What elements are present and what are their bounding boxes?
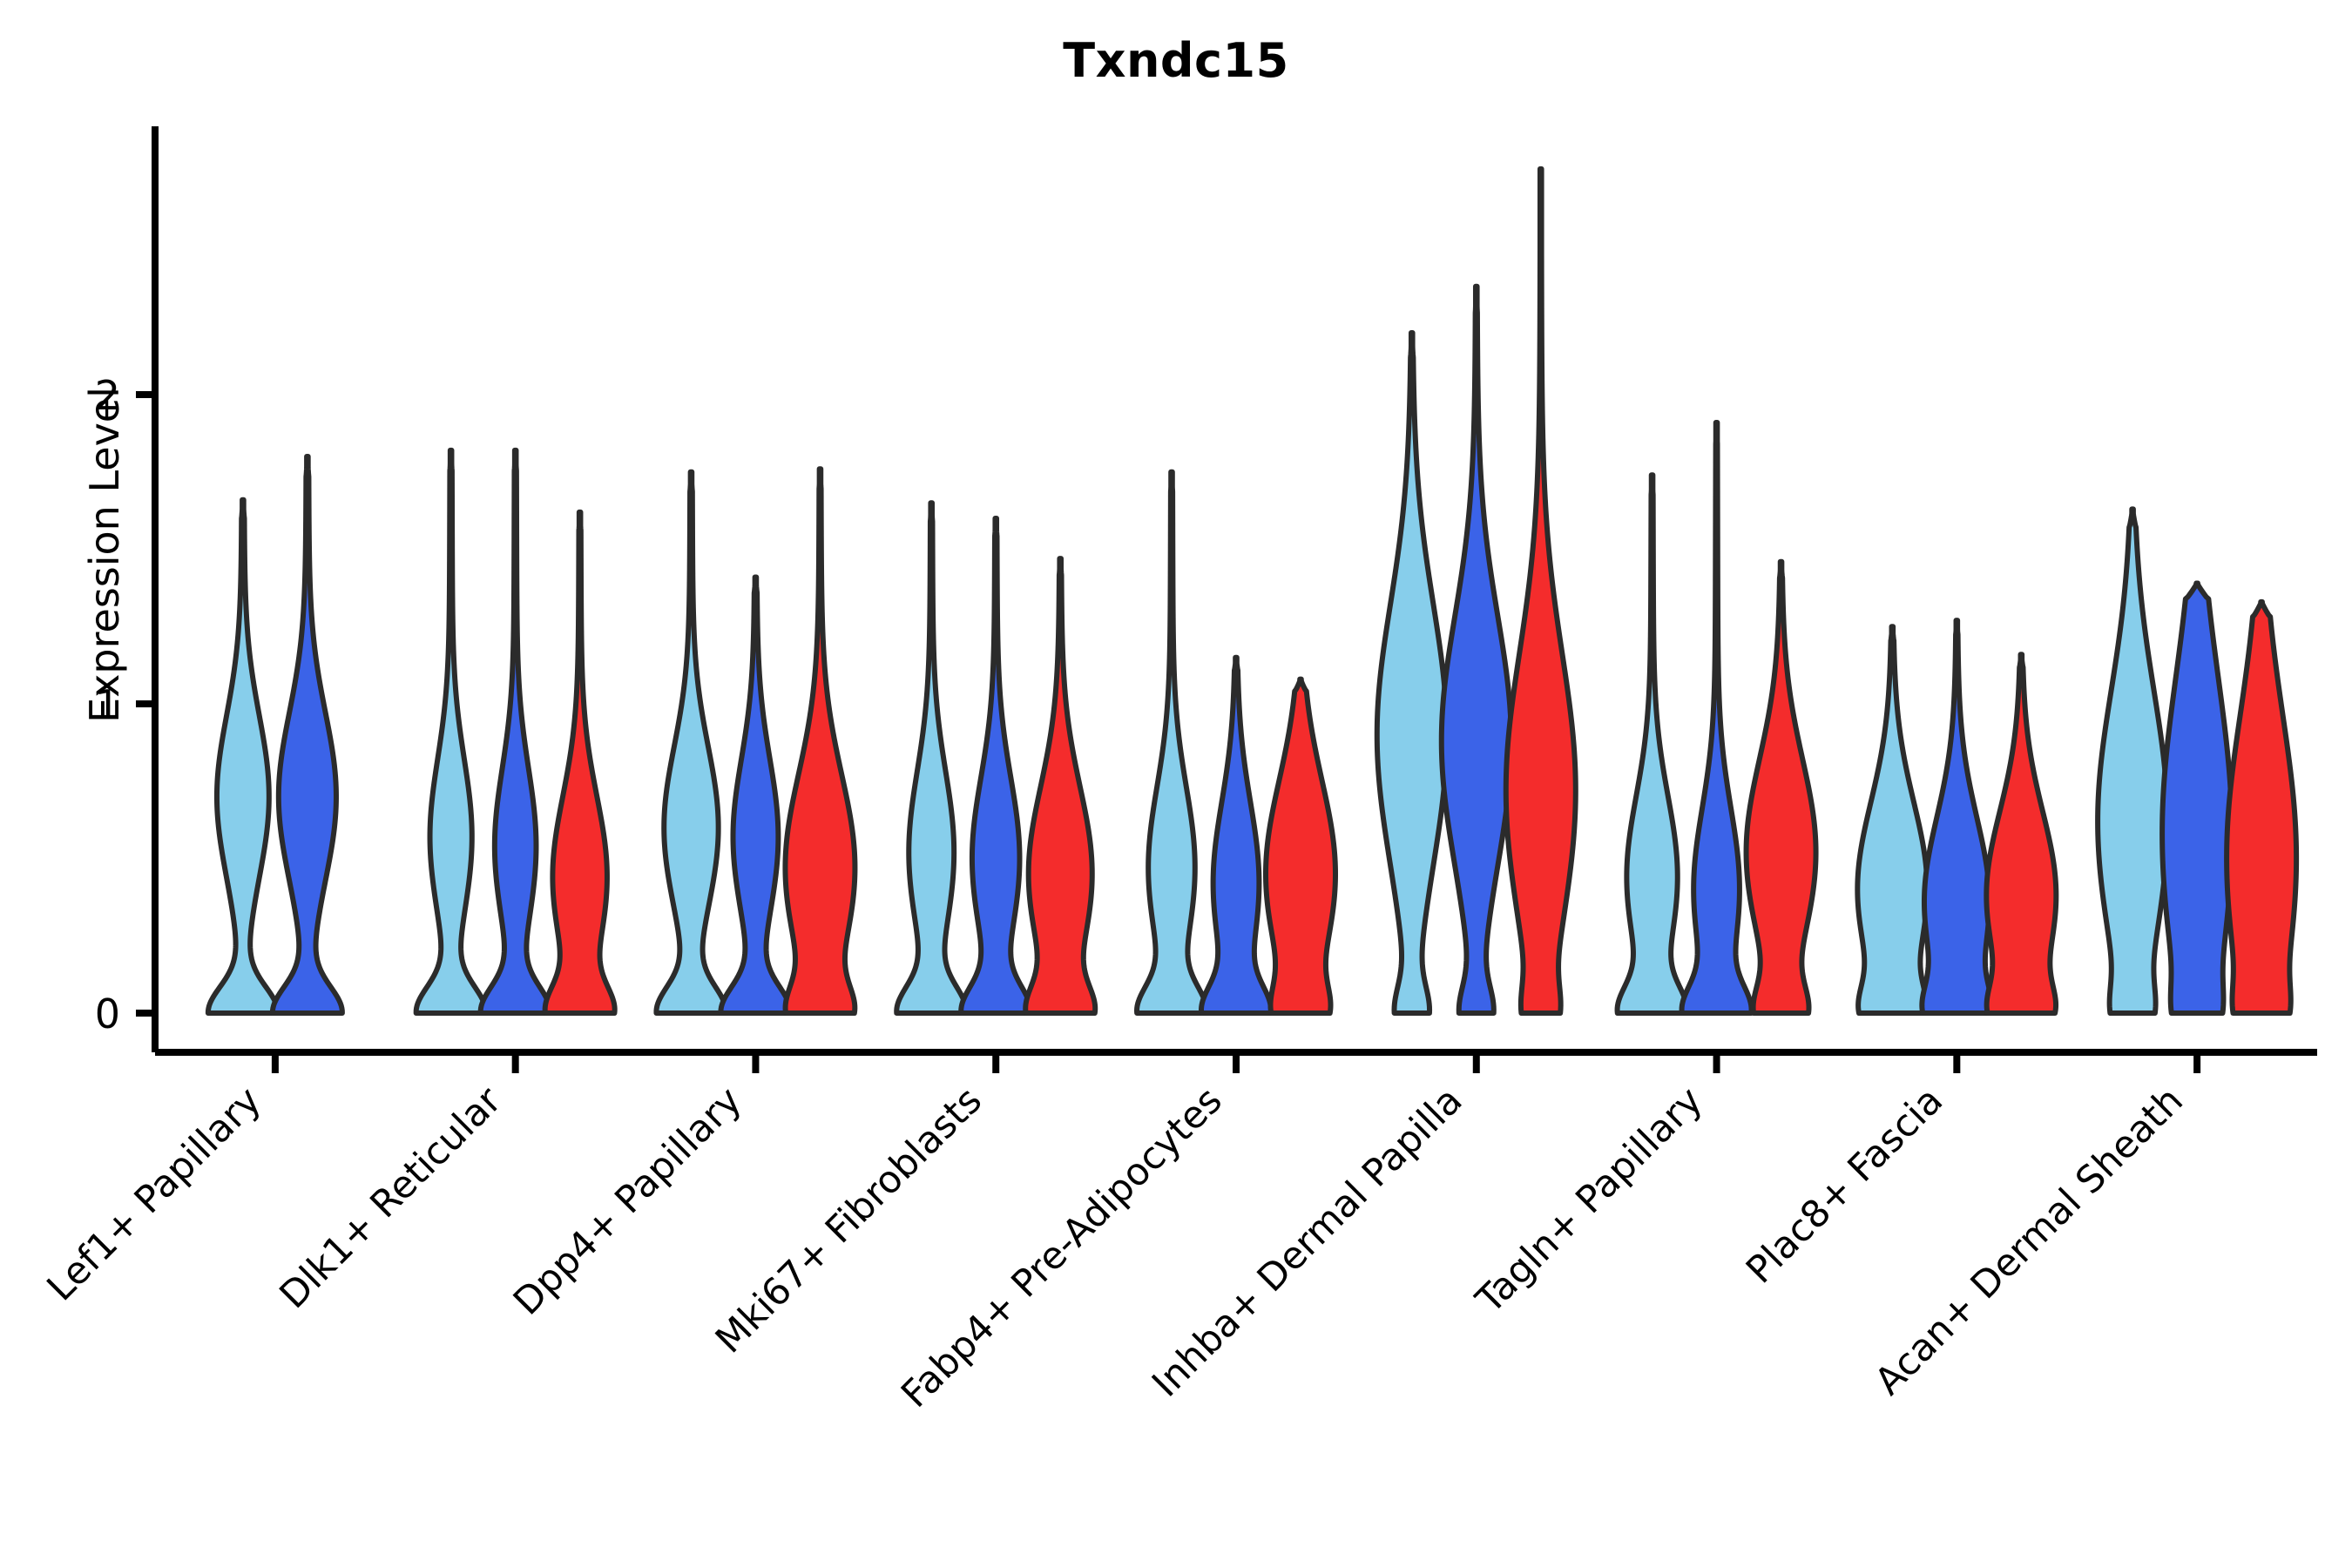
violin-6-2: [1442, 287, 1511, 1013]
violin-3-3: [785, 469, 855, 1013]
violin-8-2: [1922, 620, 1991, 1013]
violin-3-1: [656, 472, 726, 1013]
violin-5-3: [1266, 679, 1335, 1013]
violin-4-1: [896, 503, 966, 1013]
x-tick-group-1: Dlk1+ Reticular: [272, 1078, 510, 1317]
violin-1-2: [273, 456, 342, 1013]
x-tick-label-2: Dpp4+ Papillary: [505, 1078, 750, 1323]
violin-7-2: [1682, 422, 1752, 1013]
violin-plot-figure: Txndc15 Expression Level 012 Lef1+ Papil…: [0, 0, 2352, 1568]
violin-5-1: [1137, 472, 1206, 1013]
x-tick-group-2: Dpp4+ Papillary: [505, 1078, 750, 1323]
violin-8-3: [1986, 654, 2056, 1013]
violin-3-2: [720, 577, 790, 1013]
x-tick-group-7: Plac8+ Fascia: [1738, 1078, 1951, 1292]
x-tick-label-1: Dlk1+ Reticular: [272, 1078, 510, 1317]
violin-9-3: [2227, 602, 2296, 1013]
x-tick-label-7: Plac8+ Fascia: [1738, 1078, 1951, 1292]
violin-6-3: [1506, 169, 1576, 1013]
violin-7-1: [1618, 475, 1687, 1013]
violin-4-2: [961, 518, 1031, 1013]
x-tick-group-0: Lef1+ Papillary: [39, 1078, 270, 1309]
y-tick-label-2: 2: [95, 372, 120, 419]
x-tick-label-6: Tagln+ Papillary: [1468, 1078, 1712, 1322]
violin-1-1: [208, 500, 278, 1013]
violin-2-3: [545, 512, 615, 1013]
violin-9-2: [2162, 584, 2232, 1013]
y-tick-label-1: 1: [95, 681, 120, 728]
violin-5-2: [1201, 658, 1271, 1013]
x-tick-label-3: Mki67+ Fibroblasts: [707, 1078, 990, 1362]
violin-8-1: [1857, 626, 1927, 1013]
x-tick-labels: Lef1+ PapillaryDlk1+ ReticularDpp4+ Papi…: [39, 1078, 2192, 1416]
y-tick-label-0: 0: [95, 990, 120, 1037]
chart-canvas: 012 Lef1+ PapillaryDlk1+ ReticularDpp4+ …: [0, 0, 2352, 1568]
violin-4-3: [1025, 558, 1095, 1013]
violin-6-1: [1377, 333, 1447, 1013]
x-tick-group-6: Tagln+ Papillary: [1468, 1078, 1712, 1322]
x-tick-group-3: Mki67+ Fibroblasts: [707, 1078, 990, 1362]
violins-layer: [208, 169, 2296, 1013]
violin-9-1: [2098, 509, 2167, 1013]
violin-2-2: [481, 450, 551, 1013]
x-tick-label-0: Lef1+ Papillary: [39, 1078, 270, 1309]
y-tick-labels: 012: [95, 372, 120, 1037]
violin-7-3: [1747, 562, 1816, 1013]
violin-2-1: [416, 450, 486, 1013]
